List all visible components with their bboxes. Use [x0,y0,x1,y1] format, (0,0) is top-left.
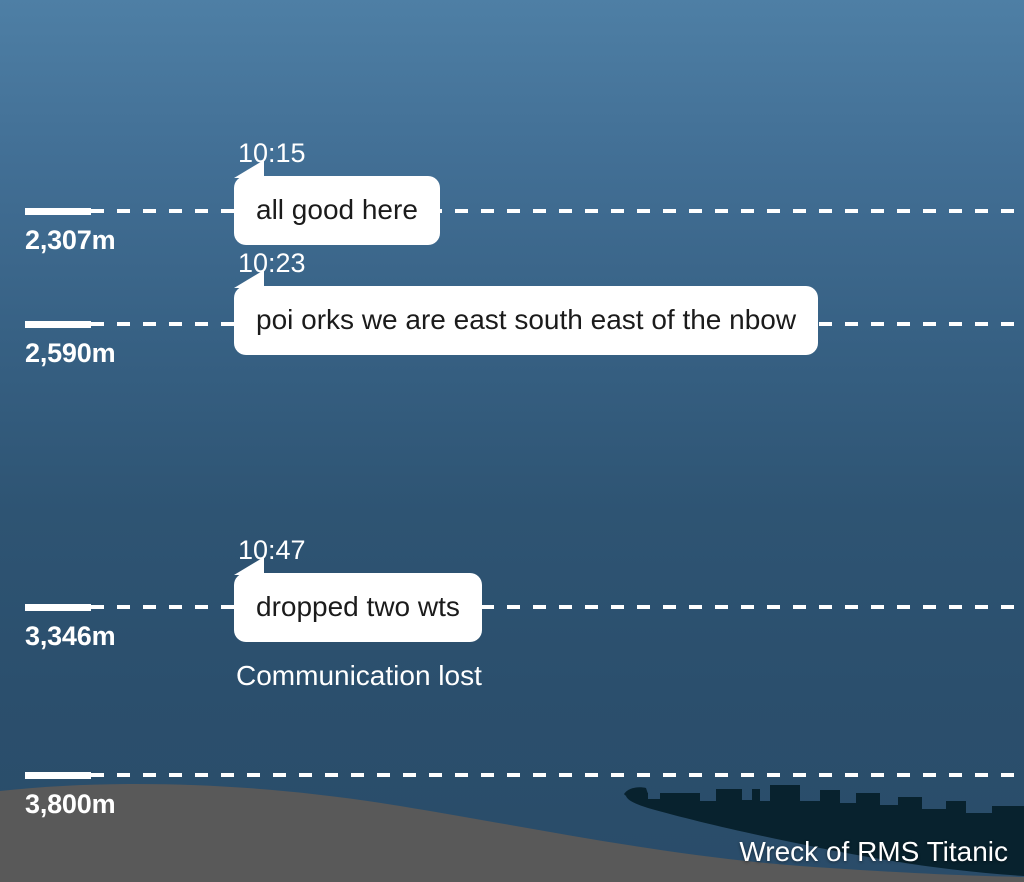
depth-label: 3,346m [25,621,115,652]
depth-tick-dashed-line [91,209,1024,213]
depth-label: 2,307m [25,225,115,256]
message-bubble-wrapper: all good here [234,176,440,245]
depth-tick-solid [25,208,91,215]
depth-tick-dashed-line [91,605,1024,609]
depth-label: 2,590m [25,338,115,369]
message-bubble-wrapper: poi orks we are east south east of the n… [234,286,818,355]
seafloor-and-wreck-layer [0,0,1024,882]
depth-label: 3,800m [25,789,115,820]
depth-tick-solid [25,604,91,611]
message-group-1023: 10:23 poi orks we are east south east of… [234,250,818,355]
depth-tick-dashed-line [91,773,1024,777]
message-group-1047: 10:47 dropped two wts Communication lost [234,537,482,690]
message-timestamp: 10:23 [238,250,818,277]
message-bubble[interactable]: poi orks we are east south east of the n… [234,286,818,355]
communication-lost-note: Communication lost [236,662,482,690]
message-group-1015: 10:15 all good here [234,140,440,245]
depth-tick-solid [25,321,91,328]
message-bubble[interactable]: all good here [234,176,440,245]
message-timestamp: 10:15 [238,140,440,167]
wreck-caption: Wreck of RMS Titanic [739,838,1008,866]
message-bubble-wrapper: dropped two wts [234,573,482,642]
depth-tick-solid [25,772,91,779]
message-timestamp: 10:47 [238,537,482,564]
seafloor-shape [0,784,1024,882]
titanic-descent-infographic: 2,307m 2,590m 3,346m 3,800m 10:15 all go… [0,0,1024,882]
message-bubble[interactable]: dropped two wts [234,573,482,642]
